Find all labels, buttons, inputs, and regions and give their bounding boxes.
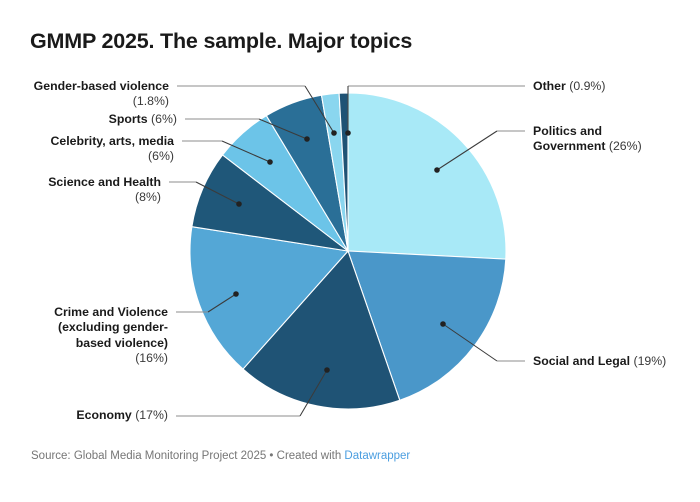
slice-label-name-social_legal: Social and Legal	[533, 354, 630, 368]
slice-label-science_health: Science and Health (8%)	[48, 175, 161, 206]
pointer-dot-sports	[304, 136, 310, 142]
slice-label-name-sports: Sports	[109, 112, 148, 126]
slice-label-value-other: (0.9%)	[569, 79, 605, 93]
pointer-dot-economy	[324, 367, 330, 373]
slice-label-value-crime_violence: (16%)	[135, 351, 168, 365]
pie-chart	[0, 0, 700, 502]
pointer-dot-crime_violence	[233, 291, 239, 297]
slice-label-name-science_health: Science and Health	[48, 175, 161, 189]
footer-source-text: Source: Global Media Monitoring Project …	[31, 450, 344, 462]
chart-container: GMMP 2025. The sample. Major topics Poli…	[0, 0, 700, 502]
datawrapper-link[interactable]: Datawrapper	[344, 450, 410, 462]
pointer-dot-celebrity	[267, 159, 273, 165]
pointer-dot-gender_violence	[331, 130, 337, 136]
slice-label-celebrity: Celebrity, arts, media (6%)	[37, 134, 174, 165]
slice-label-gender_violence: Gender-based violence (1.8%)	[27, 79, 169, 110]
pie-slices	[190, 93, 506, 409]
pointer-dot-other	[345, 130, 351, 136]
slice-label-sports: Sports (6%)	[88, 112, 177, 127]
slice-label-name-celebrity: Celebrity, arts, media	[51, 134, 174, 148]
pie-slice-politics[interactable]	[348, 93, 506, 259]
slice-label-name-crime_violence: Crime and Violence (excluding gender- ba…	[54, 305, 168, 350]
pointer-dot-science_health	[236, 201, 242, 207]
slice-label-name-politics: Politics and Government	[533, 124, 605, 153]
chart-footer: Source: Global Media Monitoring Project …	[31, 450, 410, 462]
slice-label-social_legal: Social and Legal (19%)	[533, 354, 666, 369]
slice-label-value-economy: (17%)	[135, 408, 168, 422]
pointer-dot-politics	[434, 167, 440, 173]
slice-label-name-gender_violence: Gender-based violence	[34, 79, 169, 93]
slice-label-name-economy: Economy	[76, 408, 131, 422]
slice-label-value-gender_violence: (1.8%)	[133, 94, 169, 108]
slice-label-politics: Politics and Government (26%)	[533, 124, 642, 155]
slice-label-value-politics: (26%)	[609, 139, 642, 153]
slice-label-other: Other (0.9%)	[533, 79, 605, 94]
slice-label-name-other: Other	[533, 79, 566, 93]
pointer-dot-social_legal	[440, 321, 446, 327]
slice-label-crime_violence: Crime and Violence (excluding gender- ba…	[43, 305, 168, 367]
slice-label-value-science_health: (8%)	[135, 190, 161, 204]
slice-label-economy: Economy (17%)	[68, 408, 168, 423]
slice-label-value-social_legal: (19%)	[633, 354, 666, 368]
slice-label-value-sports: (6%)	[151, 112, 177, 126]
slice-label-value-celebrity: (6%)	[148, 149, 174, 163]
